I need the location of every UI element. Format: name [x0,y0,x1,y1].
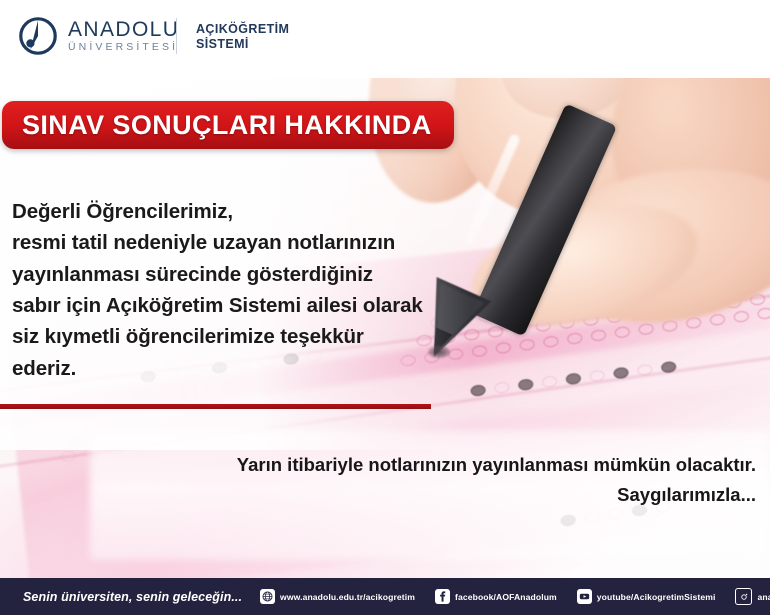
system-title: AÇIKÖĞRETİM SİSTEMİ [196,22,289,53]
globe-icon [260,589,275,604]
footer-bar: Senin üniversiten, senin geleceğin... ww… [0,578,770,615]
message-line: siz kıymetli öğrencilerimize teşekkür [12,321,458,352]
system-title-line1: AÇIKÖĞRETİM [196,22,289,37]
footer-link-youtube[interactable]: youtube/AcikogretimSistemi [577,589,716,604]
youtube-label: youtube/AcikogretimSistemi [597,592,716,602]
instagram-label: anadoluuniv_acikogretimsistemi [757,592,770,602]
message-line: Değerli Öğrencilerimiz, [12,196,458,227]
footer-link-facebook[interactable]: facebook/AOFAnadolum [435,589,557,604]
website-label: www.anadolu.edu.tr/acikogretim [280,592,415,602]
system-title-line2: SİSTEMİ [196,37,289,52]
header-bar: ANADOLU ÜNİVERSİTESİ AÇIKÖĞRETİM SİSTEMİ [0,0,770,78]
closing-line: Yarın itibariyle notlarınızın yayınlanma… [116,450,756,480]
closing-message: Yarın itibariyle notlarınızın yayınlanma… [116,450,756,510]
anadolu-logo: ANADOLU ÜNİVERSİTESİ [18,16,179,56]
poster-announcement: ANADOLU ÜNİVERSİTESİ AÇIKÖĞRETİM SİSTEMİ… [0,0,770,615]
message-line: resmi tatil nedeniyle uzayan notlarınızı… [12,227,458,258]
instagram-icon [735,588,752,605]
footer-link-instagram[interactable]: anadoluuniv_acikogretimsistemi [735,588,770,605]
closing-line: Saygılarımızla... [116,480,756,510]
message-line: ederiz. [12,353,458,384]
logo-subtitle: ÜNİVERSİTESİ [68,42,179,53]
headline-banner: SINAV SONUÇLARI HAKKINDA [2,101,454,149]
footer-slogan: Senin üniversiten, senin geleceğin... [23,590,242,604]
logo-wordmark: ANADOLU ÜNİVERSİTESİ [68,19,179,53]
headline-text: SINAV SONUÇLARI HAKKINDA [22,110,432,141]
youtube-icon [577,589,592,604]
message-line: sabır için Açıköğretim Sistemi ailesi ol… [12,290,458,321]
facebook-label: facebook/AOFAnadolum [455,592,557,602]
anadolu-university-emblem-icon [18,16,58,56]
bubble-row [470,361,677,397]
message-body: Değerli Öğrencilerimiz, resmi tatil nede… [12,196,458,384]
logo-name: ANADOLU [68,19,179,40]
red-divider-rule [0,404,431,409]
facebook-icon [435,589,450,604]
message-line: yayınlanması sürecinde gösterdiğiniz [12,259,458,290]
logo-divider [176,18,177,54]
footer-link-website[interactable]: www.anadolu.edu.tr/acikogretim [260,589,415,604]
